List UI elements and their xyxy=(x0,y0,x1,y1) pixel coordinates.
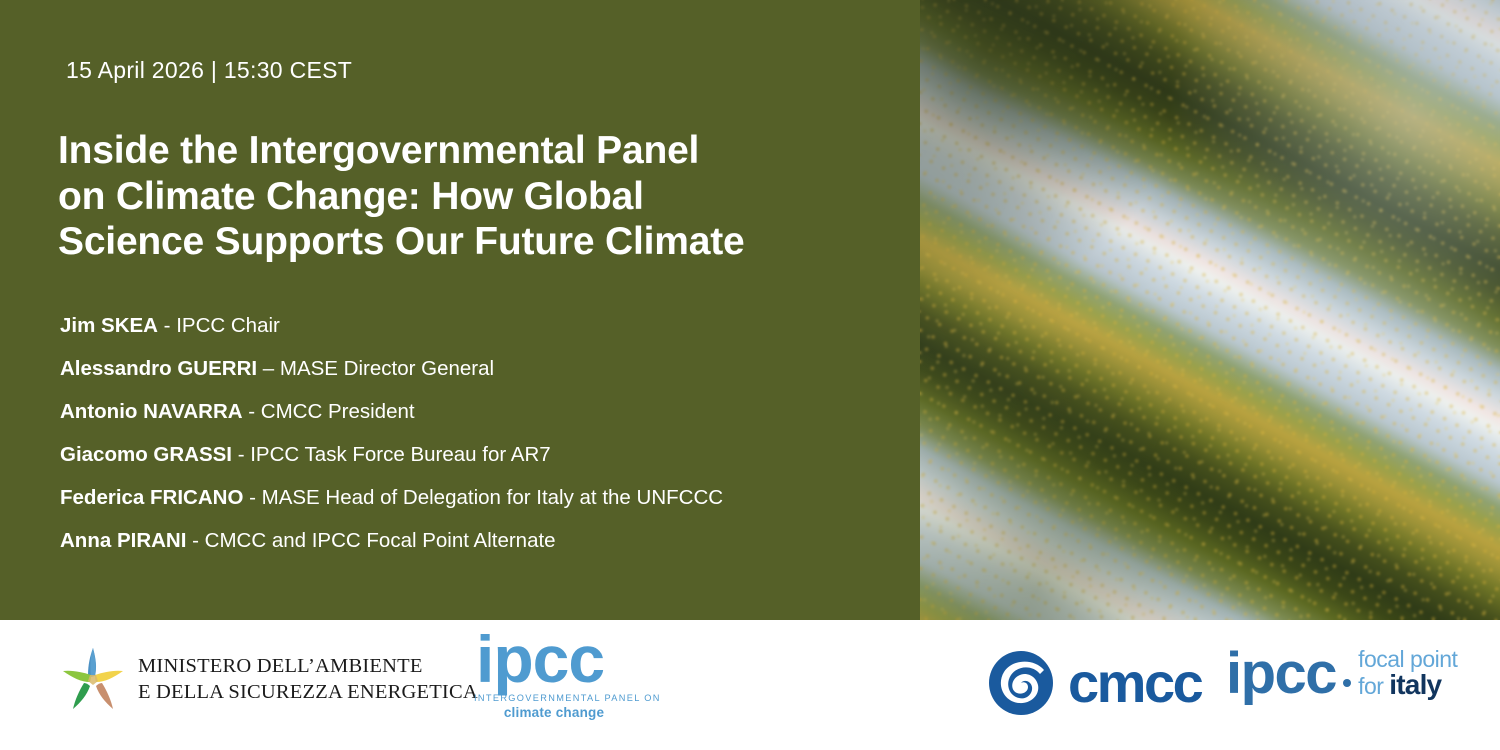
speaker-name: Giacomo GRASSI xyxy=(60,443,232,466)
cmcc-wordmark: cmcc xyxy=(1068,658,1201,708)
mase-star-icon xyxy=(60,645,126,713)
cmcc-wave-spiral-icon xyxy=(988,650,1054,716)
list-item: Alessandro GUERRI – MASE Director Genera… xyxy=(60,359,920,380)
mase-ministry-name: MINISTERO DELL’AMBIENTE E DELLA SICUREZZ… xyxy=(138,653,478,705)
list-item: Giacomo GRASSI - IPCC Task Force Bureau … xyxy=(60,445,920,466)
page-title-line-3: Science Supports Our Future Climate xyxy=(58,219,878,265)
green-content-panel: 15 April 2026 | 15:30 CEST Inside the In… xyxy=(0,0,920,620)
focal-point-line-2-prefix: for xyxy=(1358,673,1389,699)
focal-point-line-2: for italy xyxy=(1358,671,1457,700)
page-title: Inside the Intergovernmental Panel on Cl… xyxy=(58,128,878,265)
ipcc-tagline-line-1: INTERGOVERNMENTAL PANEL ON xyxy=(474,693,634,703)
page-title-line-2: on Climate Change: How Global xyxy=(58,174,878,220)
speaker-name: Alessandro GUERRI xyxy=(60,357,257,380)
dot-separator-icon xyxy=(1343,679,1351,687)
speaker-list: Jim SKEA - IPCC Chair Alessandro GUERRI … xyxy=(60,316,920,574)
ipcc-logo: ipcc INTERGOVERNMENTAL PANEL ON climate … xyxy=(474,634,634,720)
speaker-role: – MASE Director General xyxy=(257,357,494,380)
event-announcement-poster: 15 April 2026 | 15:30 CEST Inside the In… xyxy=(0,0,1500,750)
ipcc-tagline-line-2: climate change xyxy=(474,705,634,720)
event-date-time: 15 April 2026 | 15:30 CEST xyxy=(66,57,352,84)
speaker-role: - CMCC President xyxy=(243,400,415,423)
speaker-role: - MASE Head of Delegation for Italy at t… xyxy=(243,486,723,509)
list-item: Anna PIRANI - CMCC and IPCC Focal Point … xyxy=(60,531,920,552)
speaker-role: - IPCC Chair xyxy=(158,314,280,337)
mase-name-line-1: MINISTERO DELL’AMBIENTE xyxy=(138,653,478,679)
ipcc-focal-point-italy-logo: ipcc focal point for italy xyxy=(1226,648,1457,700)
ipcc-wordmark: ipcc xyxy=(474,634,634,685)
list-item: Federica FRICANO - MASE Head of Delegati… xyxy=(60,488,920,509)
speaker-name: Antonio NAVARRA xyxy=(60,400,243,423)
poster-top-section: 15 April 2026 | 15:30 CEST Inside the In… xyxy=(0,0,1500,620)
photo-soft-glow xyxy=(920,0,1500,620)
focal-point-line-1: focal point xyxy=(1358,648,1457,671)
speaker-name: Federica FRICANO xyxy=(60,486,243,509)
list-item: Antonio NAVARRA - CMCC President xyxy=(60,402,920,423)
mase-name-line-2: E DELLA SICUREZZA ENERGETICA xyxy=(138,679,478,705)
speaker-name: Anna PIRANI xyxy=(60,529,186,552)
speaker-name: Jim SKEA xyxy=(60,314,158,337)
list-item: Jim SKEA - IPCC Chair xyxy=(60,316,920,337)
leaf-macro-photo xyxy=(920,0,1500,620)
speaker-role: - IPCC Task Force Bureau for AR7 xyxy=(232,443,551,466)
page-title-line-1: Inside the Intergovernmental Panel xyxy=(58,128,878,174)
focal-point-tagline: focal point for italy xyxy=(1358,648,1457,700)
cmcc-logo: cmcc xyxy=(988,650,1201,716)
mase-ministry-logo: MINISTERO DELL’AMBIENTE E DELLA SICUREZZ… xyxy=(60,645,478,713)
focal-point-country: italy xyxy=(1389,669,1441,700)
speaker-role: - CMCC and IPCC Focal Point Alternate xyxy=(186,529,555,552)
ipcc-focal-point-wordmark: ipcc xyxy=(1226,650,1336,698)
